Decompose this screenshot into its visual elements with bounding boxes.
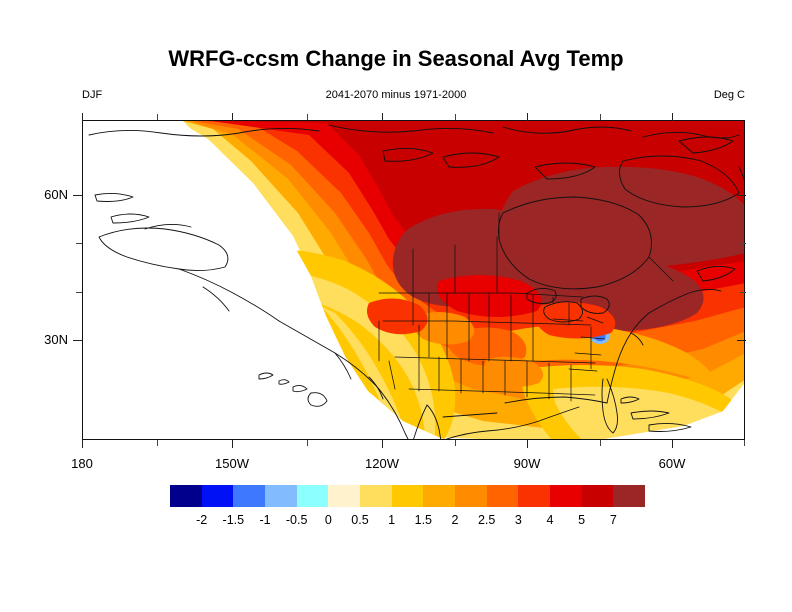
y-tick-label-60n: 60N xyxy=(22,187,68,202)
figure-canvas: WRFG-ccsm Change in Seasonal Avg Temp 20… xyxy=(0,0,792,612)
colorbar-swatch-12 xyxy=(550,485,582,507)
colorbar-swatch-9 xyxy=(455,485,487,507)
colorbar-swatch-2 xyxy=(233,485,265,507)
colorbar-swatch-7 xyxy=(392,485,424,507)
chart-title: WRFG-ccsm Change in Seasonal Avg Temp xyxy=(0,46,792,72)
y-tick-label-30n: 30N xyxy=(22,332,68,347)
colorbar-tick-labels: -2-1.5-1-0.500.511.522.53457 xyxy=(0,513,792,533)
map-contour-plot xyxy=(83,121,745,440)
colorbar-swatch-8 xyxy=(423,485,455,507)
colorbar-swatch-4 xyxy=(297,485,329,507)
units-label: Deg C xyxy=(714,89,745,101)
x-tick-label-150w: 150W xyxy=(202,456,262,471)
colorbar-swatch-11 xyxy=(518,485,550,507)
colorbar-swatch-1 xyxy=(202,485,234,507)
map-plot-area xyxy=(82,120,745,440)
colorbar-swatch-5 xyxy=(328,485,360,507)
colorbar-swatch-10 xyxy=(487,485,519,507)
colorbar-swatch-0 xyxy=(170,485,202,507)
x-tick-label-180: 180 xyxy=(52,456,112,471)
colorbar-swatch-13 xyxy=(582,485,614,507)
season-label: DJF xyxy=(82,89,102,101)
x-tick-label-90w: 90W xyxy=(497,456,557,471)
chart-subtitle: 2041-2070 minus 1971-2000 xyxy=(0,89,792,101)
x-tick-label-120w: 120W xyxy=(352,456,412,471)
colorbar xyxy=(170,485,645,507)
colorbar-swatch-6 xyxy=(360,485,392,507)
colorbar-swatch-14 xyxy=(613,485,645,507)
colorbar-swatch-3 xyxy=(265,485,297,507)
colorbar-tick-13: 7 xyxy=(593,513,633,527)
x-tick-label-60w: 60W xyxy=(642,456,702,471)
